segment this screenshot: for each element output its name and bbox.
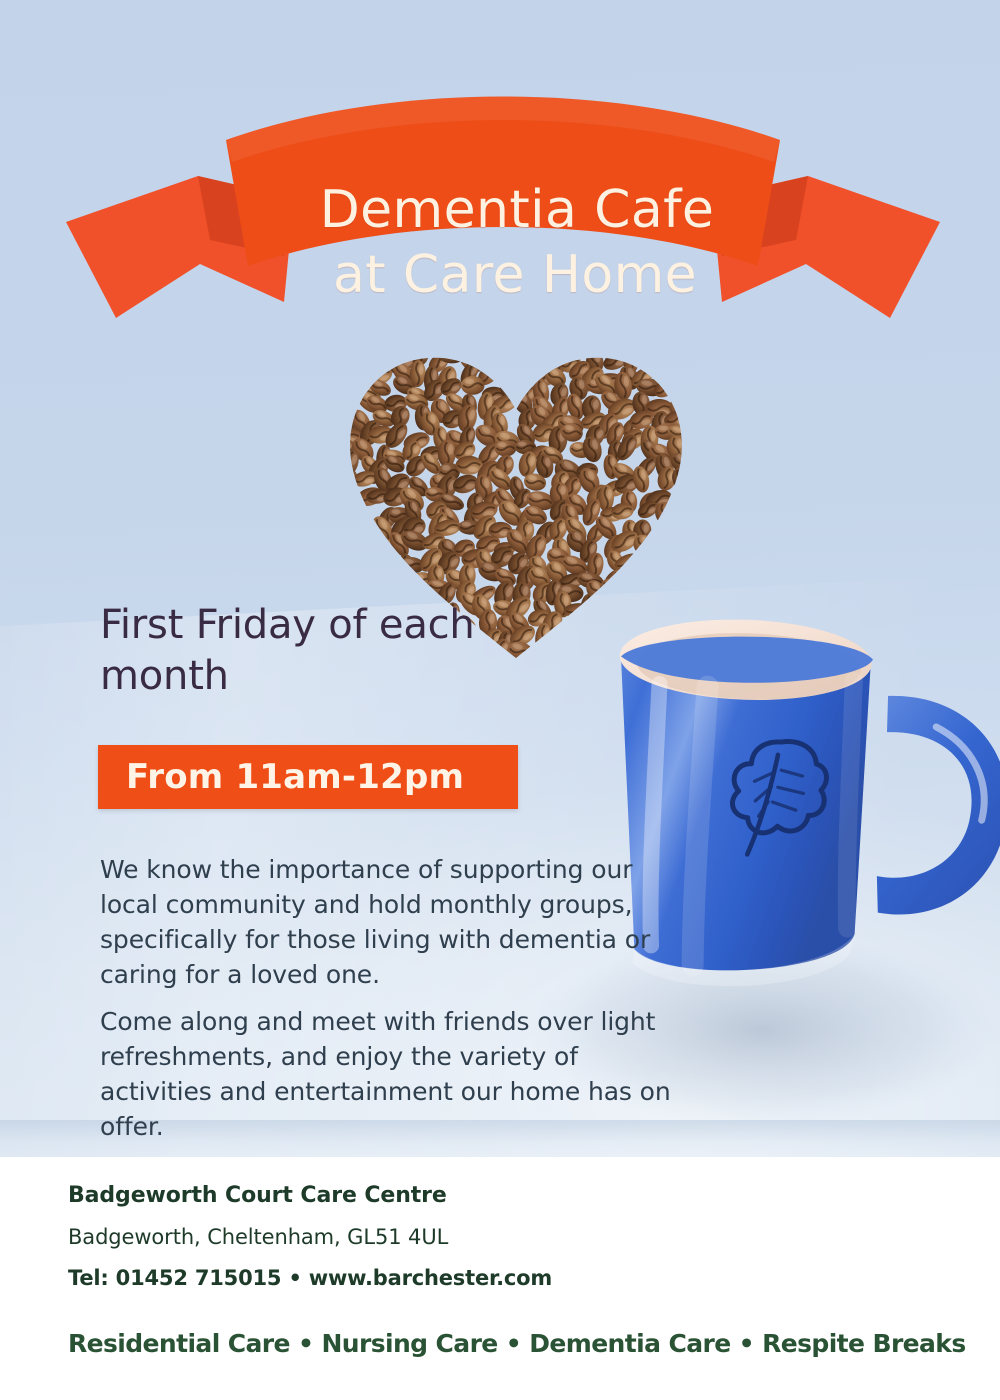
care-home-contact: Tel: 01452 715015 • www.barchester.com xyxy=(68,1266,552,1290)
footer-contact-block: Badgeworth Court Care Centre Badgeworth,… xyxy=(68,1183,552,1290)
body-paragraph-2: Come along and meet with friends over li… xyxy=(100,1004,678,1144)
hero-photo-area: Dementia Cafe at Care Home First Friday … xyxy=(0,0,1000,1157)
care-home-address: Badgeworth, Cheltenham, GL51 4UL xyxy=(68,1225,552,1249)
poster: Dementia Cafe at Care Home First Friday … xyxy=(0,0,1000,1400)
body-paragraph-1: We know the importance of supporting our… xyxy=(100,852,678,992)
services-list: Residential Care • Nursing Care • Dement… xyxy=(68,1329,966,1358)
ribbon-banner: Dementia Cafe at Care Home xyxy=(58,88,948,320)
event-time-badge: From 11am-12pm xyxy=(98,745,518,809)
event-frequency-headline: First Friday of each month xyxy=(100,600,540,702)
care-home-name: Badgeworth Court Care Centre xyxy=(68,1183,552,1208)
event-time-label: From 11am-12pm xyxy=(98,757,464,797)
footer: Badgeworth Court Care Centre Badgeworth,… xyxy=(0,1157,1000,1400)
